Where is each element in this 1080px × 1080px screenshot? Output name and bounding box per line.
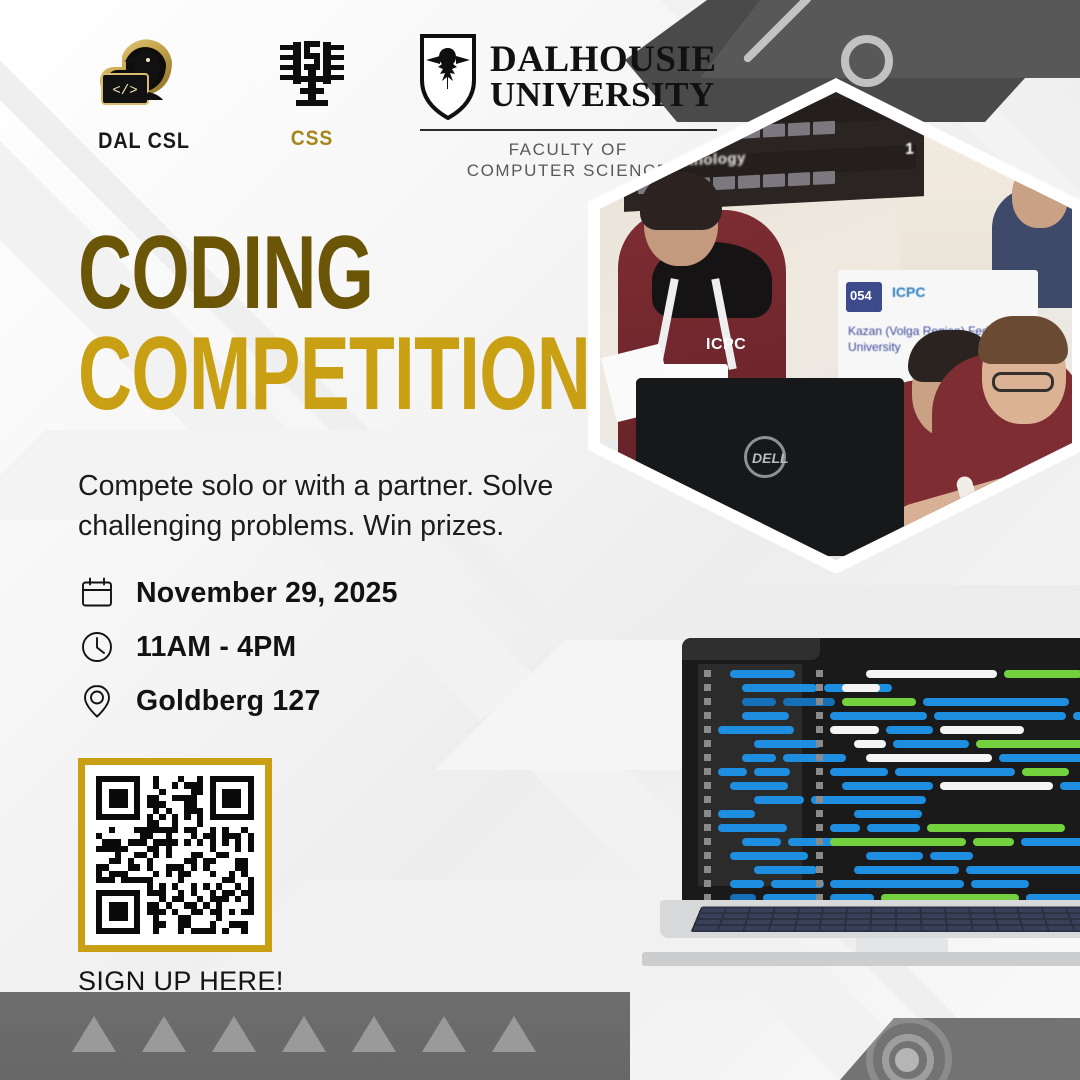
concentric-circles-dot — [895, 1048, 919, 1072]
editor-gutter-right — [816, 670, 823, 900]
code-line — [866, 754, 1080, 762]
code-token — [866, 754, 992, 762]
gutter-tick — [816, 740, 823, 747]
code-token — [830, 838, 966, 846]
code-line — [830, 726, 1080, 734]
code-token — [1060, 782, 1080, 790]
code-token — [1022, 768, 1069, 776]
editor-code-right — [830, 670, 1080, 900]
scoreboard-score-2: 1 — [905, 141, 914, 159]
gutter-tick — [816, 712, 823, 719]
keyboard-key — [701, 908, 725, 912]
keyboard-key — [847, 914, 870, 918]
code-token — [842, 684, 880, 692]
code-token — [867, 824, 920, 832]
keyboard-key — [1074, 926, 1080, 930]
keyboard-key — [1048, 926, 1073, 930]
code-token — [966, 866, 1080, 874]
detail-row-time: 11AM - 4PM — [76, 626, 398, 668]
hoodie-icpc-text: ICPC — [706, 336, 746, 354]
logo-dal-csl-label: DAL CSL — [85, 128, 204, 154]
banner-number: 054 — [850, 288, 872, 303]
keyboard-key — [995, 914, 1019, 918]
code-line — [866, 670, 1080, 678]
code-line — [842, 782, 1080, 790]
detail-row-location: Goldberg 127 — [76, 680, 398, 722]
keyboard-key — [748, 914, 772, 918]
signup-qr-block[interactable]: SIGN UP HERE! — [78, 758, 284, 997]
keyboard-key — [1047, 920, 1071, 924]
code-token — [893, 740, 969, 748]
gutter-tick — [704, 698, 711, 705]
keyboard-key — [998, 926, 1022, 930]
code-token — [854, 810, 922, 818]
code-token — [742, 754, 776, 762]
keyboard-key — [897, 926, 920, 930]
keyboard-key — [971, 914, 994, 918]
keyboard-key — [872, 926, 895, 930]
code-line — [830, 768, 1080, 776]
dalhousie-line1: DALHOUSIE — [490, 42, 717, 78]
code-token — [854, 740, 886, 748]
editor-gutter-left — [704, 670, 711, 900]
gutter-tick — [816, 768, 823, 775]
gutter-tick — [704, 838, 711, 845]
gutter-tick — [704, 740, 711, 747]
keyboard-key — [1043, 908, 1067, 912]
svg-text:</>: </> — [112, 83, 137, 99]
keyboard-key — [897, 908, 920, 912]
keyboard-key — [746, 920, 770, 924]
code-line — [830, 824, 1080, 832]
keyboard-key — [946, 908, 969, 912]
event-details-list: November 29, 2025 11AM - 4PM Goldberg 12… — [76, 572, 398, 722]
code-line — [854, 810, 1080, 818]
code-token — [730, 880, 764, 888]
code-token — [730, 670, 795, 678]
keyboard-key — [795, 926, 819, 930]
code-token — [718, 768, 747, 776]
gutter-tick — [704, 824, 711, 831]
footer-triangle — [352, 1016, 396, 1052]
keyboard-key — [846, 926, 870, 930]
logo-css: CSS — [242, 36, 382, 151]
code-token — [742, 684, 817, 692]
banner-univ-2: University — [848, 340, 901, 354]
code-token — [830, 726, 879, 734]
code-token — [754, 768, 790, 776]
gutter-tick — [704, 726, 711, 733]
keyboard-key — [725, 908, 749, 912]
detail-time-label: 11AM - 4PM — [136, 631, 296, 664]
keyboard-key — [798, 914, 821, 918]
code-line — [830, 712, 1080, 720]
keyboard-key — [721, 920, 745, 924]
keyboard-key — [847, 920, 870, 924]
gutter-tick — [704, 796, 711, 803]
keyboard-key — [922, 914, 945, 918]
code-token — [718, 824, 787, 832]
detail-date-label: November 29, 2025 — [136, 577, 398, 610]
keyboard-key — [696, 920, 721, 924]
keyboard-key — [774, 908, 797, 912]
code-token — [830, 880, 964, 888]
code-token — [742, 712, 789, 720]
code-token — [830, 768, 888, 776]
gutter-tick — [704, 852, 711, 859]
footer-triangle — [72, 1016, 116, 1052]
code-token — [866, 852, 923, 860]
keyboard-key — [823, 908, 846, 912]
gutter-tick — [816, 796, 823, 803]
code-token — [930, 852, 973, 860]
keyboard-key — [848, 908, 871, 912]
gutter-tick — [704, 880, 711, 887]
code-line — [830, 880, 1080, 888]
gutter-tick — [704, 670, 711, 677]
keyboard-key — [973, 926, 997, 930]
code-line — [830, 838, 1080, 846]
code-line — [854, 740, 1080, 748]
gutter-tick — [704, 768, 711, 775]
keyboard-key — [1020, 914, 1044, 918]
code-token — [866, 670, 997, 678]
code-token — [742, 838, 781, 846]
keyboard-key — [799, 908, 822, 912]
code-line — [866, 852, 1080, 860]
gutter-tick — [816, 824, 823, 831]
code-token — [934, 712, 1066, 720]
keyboard-key — [972, 920, 996, 924]
gutter-tick — [704, 810, 711, 817]
keyboard-key — [770, 926, 794, 930]
editor-tab — [682, 638, 820, 660]
poster-canvas: </> DAL CSL — [0, 0, 1080, 1080]
code-token — [940, 782, 1053, 790]
code-token — [754, 740, 821, 748]
keyboard-key — [872, 908, 895, 912]
gutter-tick — [816, 838, 823, 845]
code-line — [830, 796, 1080, 804]
code-token — [830, 796, 926, 804]
footer-triangle — [142, 1016, 186, 1052]
footer-triangle — [492, 1016, 536, 1052]
footer-triangle — [422, 1016, 466, 1052]
keyboard-key — [723, 914, 747, 918]
calendar-icon — [76, 572, 118, 614]
code-token — [730, 852, 808, 860]
code-line — [854, 866, 1080, 874]
code-token — [854, 866, 959, 874]
gutter-tick — [816, 754, 823, 761]
keyboard-key — [796, 920, 820, 924]
gutter-tick — [816, 670, 823, 677]
gutter-tick — [704, 866, 711, 873]
subtitle-text: Compete solo or with a partner. Solve ch… — [78, 466, 578, 547]
keyboard-key — [946, 914, 969, 918]
keyboard-key — [693, 926, 718, 930]
code-token — [940, 726, 1025, 734]
code-token — [754, 796, 804, 804]
gutter-tick — [816, 698, 823, 705]
location-pin-icon — [76, 680, 118, 722]
keyboard-key — [947, 926, 971, 930]
keyboard-key — [994, 908, 1017, 912]
laptop-foot — [642, 952, 1080, 966]
footer-triangles — [72, 1016, 536, 1052]
keyboard-key — [1045, 914, 1069, 918]
gutter-tick — [816, 880, 823, 887]
keyboard-key — [897, 914, 920, 918]
gutter-tick — [816, 684, 823, 691]
gutter-tick — [816, 810, 823, 817]
keyboard-key — [744, 926, 769, 930]
keyboard-key — [1071, 920, 1080, 924]
gutter-tick — [816, 866, 823, 873]
keyboard-key — [750, 908, 774, 912]
keyboard-key — [773, 914, 797, 918]
code-token — [895, 768, 1015, 776]
logo-css-label: CSS — [248, 127, 377, 151]
keyboard-key — [897, 920, 920, 924]
laptop-screen — [682, 638, 1080, 900]
keyboard-key — [698, 914, 722, 918]
gutter-tick — [704, 712, 711, 719]
keyboard-key — [872, 914, 895, 918]
title-line-1: CODING — [78, 228, 590, 320]
dalhousie-line2: UNIVERSITY — [490, 78, 717, 112]
gutter-tick — [704, 684, 711, 691]
code-token — [742, 698, 776, 706]
keyboard-key — [970, 908, 993, 912]
code-token — [783, 698, 834, 706]
code-token — [1004, 670, 1080, 678]
dalhousie-faculty: FACULTY OF COMPUTER SCIENCE — [467, 139, 670, 182]
keyboard-key — [771, 920, 795, 924]
eagle-laptop-badge-icon: </> — [92, 30, 196, 116]
gutter-tick — [816, 782, 823, 789]
gutter-tick — [704, 754, 711, 761]
keyboard-key — [1067, 908, 1080, 912]
code-token — [1073, 712, 1080, 720]
keyboard-key — [922, 920, 945, 924]
gutter-tick — [816, 852, 823, 859]
code-token — [842, 782, 933, 790]
code-token — [927, 824, 1065, 832]
dalhousie-divider — [420, 129, 717, 131]
code-token — [842, 698, 916, 706]
code-line — [842, 698, 1080, 706]
code-token — [971, 880, 1029, 888]
clock-icon — [76, 626, 118, 668]
code-token — [730, 782, 788, 790]
code-token — [718, 810, 755, 818]
footer-triangle — [212, 1016, 256, 1052]
gutter-tick — [816, 726, 823, 733]
footer-triangle — [282, 1016, 326, 1052]
code-token — [754, 866, 817, 874]
keyboard-key — [1019, 908, 1043, 912]
code-token — [923, 698, 1069, 706]
keyboard-key — [1069, 914, 1080, 918]
keyboard-key — [922, 926, 946, 930]
dalhousie-shield-crest-icon — [420, 34, 476, 120]
banner-org: ICPC — [892, 284, 925, 300]
detail-row-date: November 29, 2025 — [76, 572, 398, 614]
code-token — [999, 754, 1080, 762]
code-token — [973, 838, 1013, 846]
pin-ring-icon — [841, 35, 893, 87]
detail-location-label: Goldberg 127 — [136, 685, 321, 718]
keyboard-key — [997, 920, 1021, 924]
logo-dal-csl: </> DAL CSL — [78, 30, 210, 154]
keyboard-key — [1022, 920, 1046, 924]
qr-module — [248, 928, 254, 934]
code-line — [842, 684, 1080, 692]
laptop-keyboard — [691, 907, 1080, 932]
code-token — [718, 726, 794, 734]
keyboard-key — [719, 926, 744, 930]
code-token — [1021, 838, 1080, 846]
gutter-tick — [704, 782, 711, 789]
keyboard-key — [921, 908, 944, 912]
css-totem-mark-icon — [242, 36, 382, 119]
keyboard-key — [872, 920, 895, 924]
laptop-code-editor-illustration — [660, 638, 1080, 968]
faculty-line1: FACULTY OF — [467, 139, 670, 160]
logo-dalhousie-university: DALHOUSIE UNIVERSITY FACULTY OF COMPUTER… — [420, 34, 717, 181]
keyboard-key — [823, 914, 846, 918]
qr-code-icon[interactable] — [78, 758, 272, 952]
keyboard-key — [822, 920, 846, 924]
title-line-2: COMPETITION — [78, 329, 590, 421]
code-token — [976, 740, 1080, 748]
keyboard-key — [821, 926, 845, 930]
keyboard-key — [947, 920, 971, 924]
code-token — [886, 726, 933, 734]
logo-row: </> DAL CSL — [78, 30, 717, 181]
code-token — [830, 712, 927, 720]
code-token — [830, 824, 860, 832]
keyboard-key — [1023, 926, 1048, 930]
